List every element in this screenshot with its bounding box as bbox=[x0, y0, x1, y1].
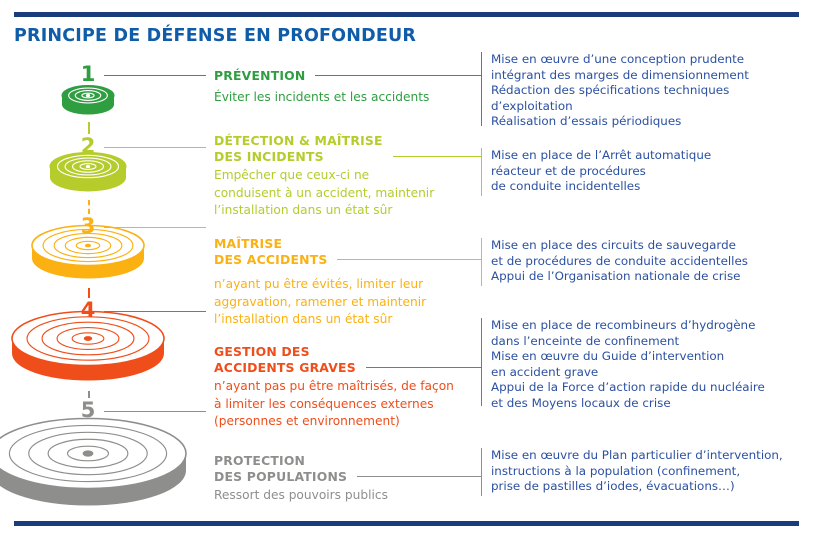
level-connector-dashed-line bbox=[88, 391, 90, 398]
level-description-1: Éviter les incidents et les accidents bbox=[214, 89, 429, 107]
level-connector-dashed-line bbox=[88, 288, 90, 298]
bracket-stub-line bbox=[472, 259, 481, 260]
level-description-4: n’ayant pas pu être maîtrisés, de façon … bbox=[214, 378, 454, 431]
heading-to-measures-line bbox=[366, 367, 481, 368]
top-divider-bar bbox=[14, 12, 799, 17]
level-measures-2: Mise en place de l’Arrêt automatique réa… bbox=[491, 148, 711, 195]
bracket-stub-line bbox=[472, 156, 481, 157]
level-heading-3: MAÎTRISEDES ACCIDENTS bbox=[214, 236, 327, 267]
level-heading-2: DÉTECTION & MAÎTRISEDES INCIDENTS bbox=[214, 133, 383, 164]
level-heading-line: PROTECTION bbox=[214, 453, 347, 469]
heading-to-measures-line bbox=[315, 75, 481, 76]
level-number-4: 4 bbox=[68, 300, 108, 321]
measures-bracket bbox=[481, 52, 482, 126]
level-measures-3: Mise en place des circuits de sauvegarde… bbox=[491, 238, 748, 285]
bottom-divider-bar bbox=[14, 521, 799, 526]
level-number-3: 3 bbox=[68, 216, 108, 237]
measures-bracket bbox=[481, 448, 482, 496]
page-title: PRINCIPE DE DÉFENSE EN PROFONDEUR bbox=[14, 26, 416, 46]
number-to-heading-line bbox=[104, 147, 206, 148]
level-measures-1: Mise en œuvre d’une conception prudente … bbox=[491, 52, 749, 130]
level-number-5: 5 bbox=[68, 400, 108, 421]
level-description-2: Empêcher que ceux-ci ne conduisent à un … bbox=[214, 167, 434, 220]
level-heading-line: ACCIDENTS GRAVES bbox=[214, 360, 356, 376]
measures-bracket bbox=[481, 148, 482, 196]
bracket-stub-line bbox=[472, 476, 481, 477]
level-heading-line: DES ACCIDENTS bbox=[214, 252, 327, 268]
bracket-stub-line bbox=[472, 367, 481, 368]
heading-to-measures-line bbox=[337, 259, 481, 260]
level-measures-5: Mise en œuvre du Plan particulier d’inte… bbox=[491, 448, 783, 495]
number-to-heading-line bbox=[104, 227, 206, 228]
level-measures-4: Mise en place de recombineurs d’hydrogèn… bbox=[491, 318, 765, 412]
measures-bracket bbox=[481, 318, 482, 406]
level-description-3: n’ayant pu être évités, limiter leur agg… bbox=[214, 276, 426, 329]
level-heading-line: PRÉVENTION bbox=[214, 68, 305, 84]
heading-to-measures-line bbox=[357, 476, 481, 477]
level-heading-line: GESTION DES bbox=[214, 344, 356, 360]
measures-bracket bbox=[481, 238, 482, 286]
level-heading-line: DÉTECTION & MAÎTRISE bbox=[214, 133, 383, 149]
heading-to-measures-line bbox=[393, 156, 481, 157]
level-heading-line: DES POPULATIONS bbox=[214, 469, 347, 485]
level-heading-line: DES INCIDENTS bbox=[214, 149, 383, 165]
number-to-heading-line bbox=[104, 411, 206, 412]
level-connector-dashed-line bbox=[88, 122, 90, 134]
level-disc-graphic bbox=[0, 404, 192, 520]
level-description-5: Ressort des pouvoirs publics bbox=[214, 487, 388, 505]
number-to-heading-line bbox=[104, 75, 206, 76]
level-heading-line: MAÎTRISE bbox=[214, 236, 327, 252]
level-connector-dashed-line bbox=[88, 200, 90, 214]
level-heading-1: PRÉVENTION bbox=[214, 68, 305, 84]
level-number-1: 1 bbox=[68, 64, 108, 85]
bracket-stub-line bbox=[472, 75, 481, 76]
number-to-heading-line bbox=[104, 311, 206, 312]
level-number-2: 2 bbox=[68, 136, 108, 157]
level-heading-5: PROTECTIONDES POPULATIONS bbox=[214, 453, 347, 484]
level-heading-4: GESTION DESACCIDENTS GRAVES bbox=[214, 344, 356, 375]
